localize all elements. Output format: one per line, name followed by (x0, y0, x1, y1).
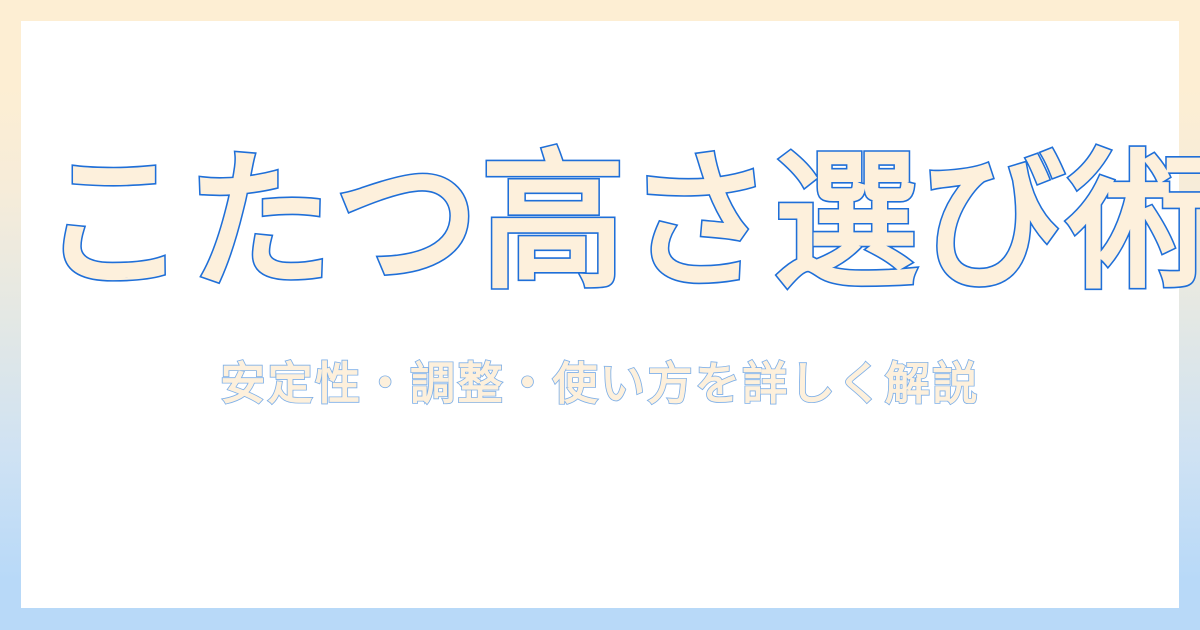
page-title: こたつ高さ選び術 (41, 147, 1158, 297)
eyecatch-canvas: こたつ高さ選び術 安定性・調整・使い方を詳しく解説 (0, 0, 1200, 630)
title-group: こたつ高さ選び術 安定性・調整・使い方を詳しく解説 (21, 147, 1179, 406)
page-subtitle: 安定性・調整・使い方を詳しく解説 (220, 361, 980, 406)
white-content-card: こたつ高さ選び術 安定性・調整・使い方を詳しく解説 (21, 21, 1179, 608)
